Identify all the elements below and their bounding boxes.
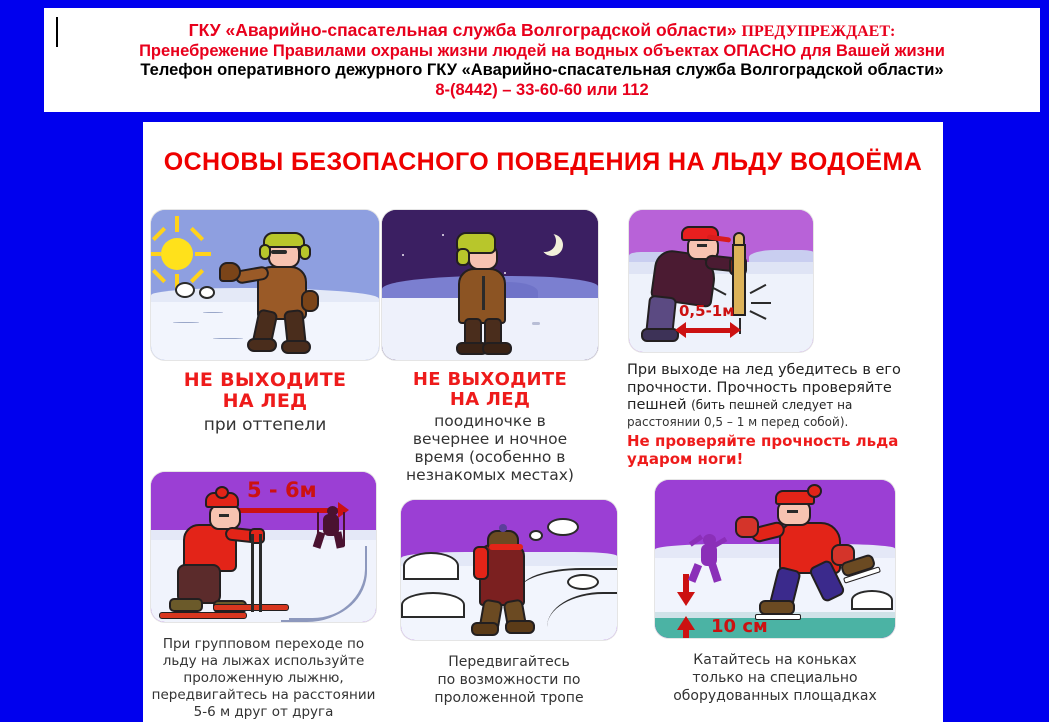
panel-ice-pick: 0,5-1м При выходе на лед убедитесь в его… xyxy=(621,210,921,460)
warning-banner: ГКУ «Аварийно-спасательная служба Волгог… xyxy=(44,8,1040,112)
panel-night: НЕ ВЫХОДИТЕ НА ЛЕД поодиночке в вечернее… xyxy=(382,210,598,500)
distant-skier-pole xyxy=(317,512,319,546)
panel-path: Передвигайтесь по возможности по проложе… xyxy=(401,500,641,715)
snow-mound xyxy=(401,592,465,618)
panel-ice-pick-illustration: 0,5-1м xyxy=(629,210,813,352)
measure-arrow-ice-pick xyxy=(675,322,741,338)
caption-red-line-1: НЕ ВЫХОДИТЕ xyxy=(382,370,598,390)
walker-boot xyxy=(505,620,535,634)
panel-skiers: 5 - 6м xyxy=(151,472,399,712)
caption-line-4: расстоянии 0,5 – 1 м перед собой). xyxy=(627,415,921,430)
panel-thaw-caption: НЕ ВЫХОДИТЕ НА ЛЕД при оттепели xyxy=(151,370,379,435)
panel-skiers-caption: При групповом переходе по льду на лыжах … xyxy=(151,636,376,720)
star-icon xyxy=(504,272,506,274)
safety-poster: ОСНОВЫ БЕЗОПАСНОГО ПОВЕДЕНИЯ НА ЛЬДУ ВОД… xyxy=(143,122,943,722)
snow-lump xyxy=(175,282,195,298)
man-boot xyxy=(482,342,512,355)
panel-skaters-caption: Катайтесь на коньках только на специальн… xyxy=(651,652,899,706)
panel-grid: НЕ ВЫХОДИТЕ НА ЛЕД при оттепели xyxy=(143,122,943,722)
panel-path-illustration xyxy=(401,500,617,640)
caption-red-line-2: ударом ноги! xyxy=(627,450,921,468)
text-cursor-caret xyxy=(56,17,58,47)
caption-line-3-bold: пешней xyxy=(627,397,687,413)
caption-line-3: проложенной тропе xyxy=(401,690,617,708)
moon-icon xyxy=(534,230,556,252)
banner-warns-word: ПРЕДУПРЕЖДАЕТ: xyxy=(742,23,896,40)
breath-puff-small xyxy=(529,530,543,541)
panel-skaters: 10 см xyxy=(651,480,919,715)
man-glove-right xyxy=(301,290,319,312)
caption-red-line-2: НА ЛЕД xyxy=(151,391,379,412)
distant-skier-pole xyxy=(343,512,345,546)
thickness-arrow-down xyxy=(677,592,695,606)
snow-lump xyxy=(199,286,215,299)
scarf-wrap xyxy=(489,544,523,550)
caption-red-line-1: Не проверяйте прочность льда xyxy=(627,432,921,450)
ski-pole xyxy=(259,534,262,612)
man-eye xyxy=(697,244,707,247)
caption-red-line-2: НА ЛЕД xyxy=(382,390,598,410)
caption-line-1: Катайтесь на коньках xyxy=(651,652,899,670)
panel-night-caption: НЕ ВЫХОДИТЕ НА ЛЕД поодиночке в вечернее… xyxy=(382,370,598,485)
caption-line-2: только на специально xyxy=(651,670,899,688)
ice-crack xyxy=(213,338,243,339)
banner-line-1: ГКУ «Аварийно-спасательная служба Волгог… xyxy=(50,21,1034,41)
man-boot-back xyxy=(247,338,277,352)
panel-skaters-illustration: 10 см xyxy=(655,480,895,638)
skate-blade-front xyxy=(755,614,801,620)
caption-line-3: проложенную лыжню, xyxy=(151,670,376,687)
man-hat-earflap xyxy=(259,244,271,260)
man-boot xyxy=(641,328,679,342)
coat-seam xyxy=(482,276,485,310)
man-boot-front xyxy=(281,340,311,354)
snow-mound xyxy=(403,552,459,580)
caption-red-line-1: НЕ ВЫХОДИТЕ xyxy=(151,370,379,391)
breath-puff xyxy=(547,518,579,536)
skate-boot-front xyxy=(759,600,795,615)
distant-skier-head xyxy=(327,506,338,516)
skater-hat-pompom xyxy=(807,484,822,498)
star-icon xyxy=(442,234,444,236)
man-hat-earflap xyxy=(299,244,311,260)
skater-eye xyxy=(787,510,798,513)
caption-line-2: прочности. Прочность проверяйте xyxy=(627,380,921,398)
caption-sub-line-2: вечернее и ночное xyxy=(382,430,598,448)
caption-sub-line-3: время (особенно в xyxy=(382,448,598,466)
skier-boot xyxy=(169,598,203,612)
ski xyxy=(159,612,247,619)
caption-line-4: передвигайтесь на расстоянии xyxy=(151,687,376,704)
caption-sub-line-1: поодиночке в xyxy=(382,412,598,430)
caption-line-3: пешней (бить пешней следует на xyxy=(627,397,921,415)
ski-pole xyxy=(251,534,254,612)
skier-eye xyxy=(219,514,229,517)
caption-subtext: при оттепели xyxy=(151,415,379,435)
caption-line-3: оборудованных площадках xyxy=(651,688,899,706)
walker-boot xyxy=(471,622,499,636)
snow-mound xyxy=(851,590,893,610)
skater-mitten-left xyxy=(735,516,759,538)
banner-line-2: Пренебрежение Правилами охраны жизни люд… xyxy=(50,42,1034,60)
measure-label-ice-pick: 0,5-1м xyxy=(679,302,735,320)
arrow-head-right xyxy=(730,322,741,338)
walker-scarf xyxy=(473,546,489,580)
caption-line-1: Передвигайтесь xyxy=(401,654,617,672)
banner-line-3: Телефон оперативного дежурного ГКУ «Авар… xyxy=(50,61,1034,79)
sun-ray xyxy=(195,252,211,256)
banner-phone-number: 8-(8442) – 33-60-60 или 112 xyxy=(50,81,1034,99)
hat-pompom xyxy=(499,524,507,532)
caption-line-1: При групповом переходе по xyxy=(151,636,376,653)
ice-crack xyxy=(203,312,223,313)
sun-ray xyxy=(175,216,179,232)
caption-line-3-rest: (бить пешней следует на xyxy=(691,398,852,412)
panel-path-caption: Передвигайтесь по возможности по проложе… xyxy=(401,654,617,708)
impact-line xyxy=(751,302,771,304)
caption-line-1: При выходе на лед убедитесь в его xyxy=(627,362,921,380)
snow-lump xyxy=(567,574,599,590)
thickness-arrow-stem xyxy=(683,628,689,638)
ice-mark xyxy=(532,322,540,325)
banner-organization: ГКУ «Аварийно-спасательная служба Волгог… xyxy=(189,20,737,40)
panel-thaw: НЕ ВЫХОДИТЕ НА ЛЕД при оттепели xyxy=(151,210,379,460)
man-glove-left xyxy=(219,262,241,282)
panel-thaw-illustration xyxy=(151,210,379,360)
panel-skiers-illustration: 5 - 6м xyxy=(151,472,376,622)
caption-sub-line-4: незнакомых местах) xyxy=(382,466,598,484)
man-eye xyxy=(271,250,287,254)
panel-night-illustration xyxy=(382,210,598,360)
arrow-line xyxy=(686,328,730,333)
caption-line-2: по возможности по xyxy=(401,672,617,690)
star-icon xyxy=(402,254,404,256)
caption-line-2: льду на лыжах используйте xyxy=(151,653,376,670)
sun-ray xyxy=(151,252,161,256)
arrow-head-left xyxy=(675,322,686,338)
man-hat-earflap xyxy=(456,248,470,266)
measure-label-skiers: 5 - 6м xyxy=(247,478,317,502)
caption-line-5: 5-6 м друг от друга xyxy=(151,704,376,721)
skier-hat-pompom xyxy=(215,486,229,499)
sun-icon xyxy=(161,238,193,270)
panel-ice-pick-caption: При выходе на лед убедитесь в его прочно… xyxy=(621,362,921,468)
